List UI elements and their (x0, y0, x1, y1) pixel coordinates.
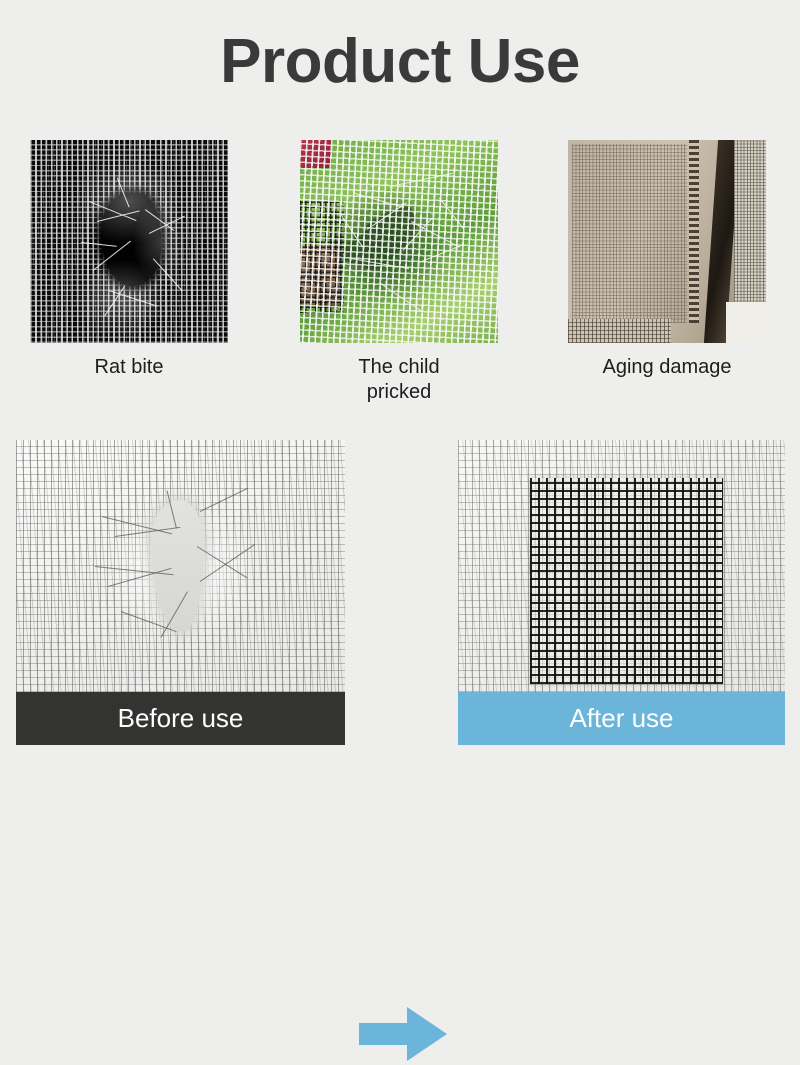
child-pricked-caption: The child pricked (300, 355, 498, 405)
rat-bite-image (30, 140, 228, 343)
damage-example-child-pricked[interactable]: The child pricked (300, 140, 498, 405)
aging-damage-image (568, 140, 766, 343)
before-use-label: Before use (16, 692, 345, 745)
before-after-comparison: Before use After use (0, 440, 800, 750)
page-title: Product Use (0, 26, 800, 97)
right-arrow-icon (357, 1003, 449, 1065)
before-use-panel[interactable]: Before use (16, 440, 345, 745)
after-use-label: After use (458, 692, 785, 745)
damage-example-aging-damage[interactable]: Aging damage (568, 140, 766, 380)
damage-examples-row: Rat bite The child pricked (0, 140, 800, 400)
child-pricked-image (300, 140, 498, 343)
after-use-image (458, 440, 785, 692)
rat-bite-caption: Rat bite (30, 355, 228, 380)
aging-damage-caption: Aging damage (568, 355, 766, 380)
damage-example-rat-bite[interactable]: Rat bite (30, 140, 228, 380)
after-use-panel[interactable]: After use (458, 440, 785, 745)
before-use-image (16, 440, 345, 692)
